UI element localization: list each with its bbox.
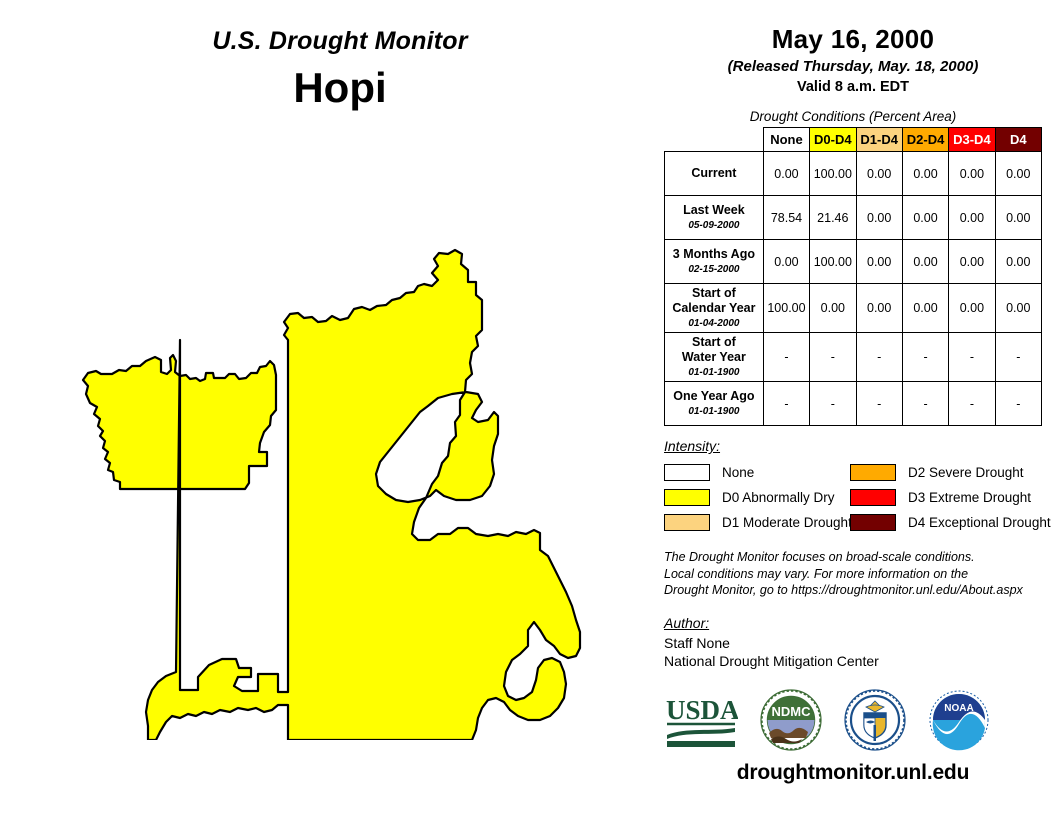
table-cell: 0.00	[810, 284, 856, 333]
row-label: Start ofCalendar Year01-04-2000	[665, 284, 764, 333]
table-cell: -	[810, 382, 856, 426]
legend-item-d2: D2 Severe Drought	[850, 464, 1050, 481]
row-label: Start ofWater Year01-01-1900	[665, 333, 764, 382]
table-row: Last Week05-09-200078.5421.460.000.000.0…	[665, 196, 1042, 240]
table-row: Current0.00100.000.000.000.000.00	[665, 152, 1042, 196]
table-cell: -	[856, 382, 902, 426]
table-corner-cell	[665, 128, 764, 152]
table-caption: Drought Conditions (Percent Area)	[660, 109, 1046, 124]
svg-text:USDA: USDA	[666, 695, 738, 725]
row-label: One Year Ago01-01-1900	[665, 382, 764, 426]
table-cell: 0.00	[995, 284, 1041, 333]
legend-item-d3: D3 Extreme Drought	[850, 489, 1050, 506]
table-cell: 100.00	[763, 284, 809, 333]
legend-swatch-d3	[850, 489, 896, 506]
logo-row: USDA NDMC	[664, 689, 1046, 751]
column-header-d0-d4: D0-D4	[810, 128, 856, 152]
table-row: Start ofWater Year01-01-1900------	[665, 333, 1042, 382]
table-body: Current0.00100.000.000.000.000.00Last We…	[665, 152, 1042, 426]
legend-swatch-none	[664, 464, 710, 481]
legend-swatch-d1	[664, 514, 710, 531]
table-cell: -	[856, 333, 902, 382]
table-cell: -	[995, 382, 1041, 426]
noaa-logo: NOAA	[928, 689, 990, 751]
map-date: May 16, 2000	[660, 24, 1046, 55]
table-cell: 0.00	[902, 196, 948, 240]
disclaimer-line-1: The Drought Monitor focuses on broad-sca…	[664, 549, 1046, 566]
legend-item-d0: D0 Abnormally Dry	[664, 489, 850, 506]
table-cell: 100.00	[810, 240, 856, 284]
table-cell: -	[949, 382, 995, 426]
legend-swatch-d2	[850, 464, 896, 481]
table-cell: -	[810, 333, 856, 382]
legend-label-d0: D0 Abnormally Dry	[722, 490, 835, 505]
drought-monitor-page: U.S. Drought Monitor Hopi May 16, 2000 (…	[0, 0, 1056, 816]
row-label-date: 01-01-1900	[668, 367, 760, 379]
drought-map	[20, 160, 660, 740]
map-svg	[20, 160, 660, 740]
table-row: One Year Ago01-01-1900------	[665, 382, 1042, 426]
table-cell: 0.00	[902, 240, 948, 284]
footer-url[interactable]: droughtmonitor.unl.edu	[664, 761, 1042, 785]
table-cell: 0.00	[995, 196, 1041, 240]
table-cell: -	[902, 333, 948, 382]
table-cell: 0.00	[763, 240, 809, 284]
table-cell: -	[949, 333, 995, 382]
drought-conditions-table: None D0-D4 D1-D4 D2-D4 D3-D4 D4 Current0…	[664, 127, 1042, 426]
author-name: Staff None	[664, 634, 1046, 653]
table-cell: 0.00	[856, 284, 902, 333]
table-cell: 0.00	[949, 240, 995, 284]
author-heading: Author:	[664, 615, 1046, 631]
table-cell: 0.00	[949, 152, 995, 196]
disclaimer-line-3: Drought Monitor, go to https://droughtmo…	[664, 582, 1046, 599]
row-label: Current	[665, 152, 764, 196]
legend-item-d1: D1 Moderate Drought	[664, 514, 850, 531]
ndmc-logo: NDMC	[760, 689, 822, 751]
author-organization: National Drought Mitigation Center	[664, 652, 1046, 671]
usdc-seal-logo	[844, 689, 906, 751]
legend-label-d4: D4 Exceptional Drought	[908, 515, 1051, 530]
legend-swatch-d4	[850, 514, 896, 531]
table-cell: 0.00	[949, 196, 995, 240]
svg-text:NDMC: NDMC	[772, 704, 812, 719]
column-header-d1-d4: D1-D4	[856, 128, 902, 152]
title-block: U.S. Drought Monitor Hopi	[40, 28, 640, 112]
table-cell: 0.00	[902, 152, 948, 196]
table-row: Start ofCalendar Year01-04-2000100.000.0…	[665, 284, 1042, 333]
row-label-date: 01-04-2000	[668, 318, 760, 330]
table-cell: 0.00	[995, 240, 1041, 284]
table-header-row: None D0-D4 D1-D4 D2-D4 D3-D4 D4	[665, 128, 1042, 152]
author-block: Staff None National Drought Mitigation C…	[664, 634, 1046, 671]
intensity-heading: Intensity:	[664, 438, 1046, 454]
table-cell: 100.00	[810, 152, 856, 196]
row-label-date: 05-09-2000	[668, 220, 760, 232]
row-label: Last Week05-09-2000	[665, 196, 764, 240]
intensity-legend: None D2 Severe Drought D0 Abnormally Dry…	[664, 460, 1046, 535]
svg-text:NOAA: NOAA	[944, 703, 973, 714]
table-cell: 21.46	[810, 196, 856, 240]
date-block: May 16, 2000 (Released Thursday, May. 18…	[660, 24, 1046, 95]
column-header-d4: D4	[995, 128, 1041, 152]
legend-item-d4: D4 Exceptional Drought	[850, 514, 1050, 531]
disclaimer-text: The Drought Monitor focuses on broad-sca…	[664, 549, 1046, 599]
usda-logo: USDA	[664, 691, 738, 749]
table-cell: 0.00	[763, 152, 809, 196]
column-header-d3-d4: D3-D4	[949, 128, 995, 152]
table-cell: -	[995, 333, 1041, 382]
table-cell: 0.00	[995, 152, 1041, 196]
table-cell: -	[763, 333, 809, 382]
valid-time: Valid 8 a.m. EDT	[660, 79, 1046, 95]
map-region-hopi-main-body	[146, 250, 580, 740]
page-title: U.S. Drought Monitor	[40, 28, 640, 56]
legend-label-d2: D2 Severe Drought	[908, 465, 1024, 480]
table-cell: 0.00	[856, 196, 902, 240]
legend-item-none: None	[664, 464, 850, 481]
table-cell: 0.00	[902, 284, 948, 333]
row-label-date: 02-15-2000	[668, 264, 760, 276]
table-cell: 0.00	[856, 240, 902, 284]
area-name-title: Hopi	[40, 64, 640, 112]
info-panel: May 16, 2000 (Released Thursday, May. 18…	[660, 24, 1046, 785]
legend-label-d3: D3 Extreme Drought	[908, 490, 1031, 505]
disclaimer-line-2: Local conditions may vary. For more info…	[664, 566, 1046, 583]
column-header-d2-d4: D2-D4	[902, 128, 948, 152]
legend-label-none: None	[722, 465, 754, 480]
row-label: 3 Months Ago02-15-2000	[665, 240, 764, 284]
table-cell: -	[902, 382, 948, 426]
table-cell: 0.00	[949, 284, 995, 333]
column-header-none: None	[763, 128, 809, 152]
row-label-date: 01-01-1900	[668, 406, 760, 418]
table-cell: 78.54	[763, 196, 809, 240]
legend-label-d1: D1 Moderate Drought	[722, 515, 852, 530]
table-cell: -	[763, 382, 809, 426]
table-cell: 0.00	[856, 152, 902, 196]
release-date: (Released Thursday, May. 18, 2000)	[660, 58, 1046, 75]
legend-swatch-d0	[664, 489, 710, 506]
table-row: 3 Months Ago02-15-20000.00100.000.000.00…	[665, 240, 1042, 284]
